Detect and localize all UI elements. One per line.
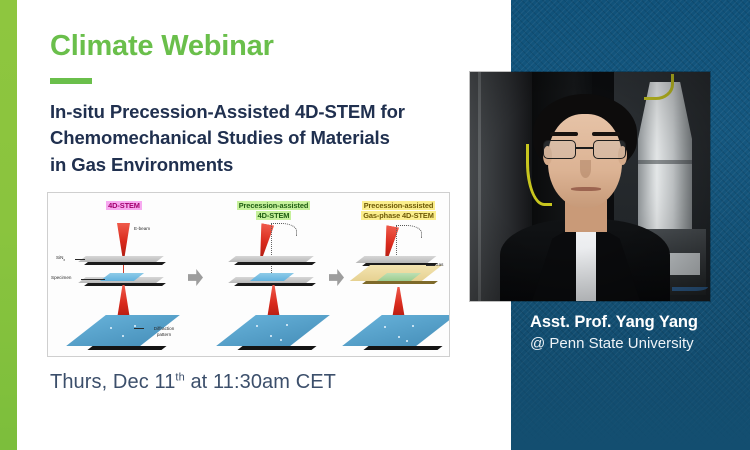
panel-label-text-line1: Precession-assisted	[237, 201, 311, 210]
slab-edge	[234, 262, 316, 265]
detector-shadow	[88, 346, 167, 350]
talk-title-line-2: Chemomechanical Studies of Materials	[50, 125, 465, 151]
label-gas: Gas	[435, 262, 443, 268]
scattered-beam-cone	[267, 285, 280, 319]
detector-shadow	[364, 346, 443, 350]
page-title: Climate Webinar	[50, 30, 274, 63]
panel-label-gas-phase: Precession-assisted Gas-phase 4D-STEM	[346, 201, 450, 221]
diffraction-spot	[384, 326, 386, 328]
leader-gas	[426, 265, 435, 266]
left-accent-rail	[0, 0, 17, 450]
diffraction-spot	[122, 335, 124, 337]
speaker-name: Asst. Prof. Yang Yang	[530, 312, 745, 333]
panel-label-text-line2: 4D-STEM	[256, 211, 292, 220]
panel-label-text-line1: Precession-assisted	[362, 201, 436, 210]
panel-label-text: 4D-STEM	[106, 201, 142, 210]
diffraction-spot	[256, 325, 258, 327]
precession-arc-icon	[396, 225, 422, 238]
panel-label-4d-stem: 4D-STEM	[48, 201, 200, 211]
diffraction-spot	[134, 325, 136, 327]
leader-specimen	[81, 279, 105, 280]
electron-beam-cone	[117, 223, 130, 257]
slab-edge	[84, 283, 166, 286]
photo-vignette	[470, 72, 710, 301]
label-e-beam: E-beam	[134, 226, 150, 232]
diffraction-spot	[412, 325, 414, 327]
title-underline-rule	[50, 78, 92, 84]
talk-title: In-situ Precession-Assisted 4D-STEM for …	[50, 99, 465, 178]
label-membrane: SiNx	[56, 255, 65, 262]
slab-edge	[362, 281, 438, 284]
scattered-beam-cone	[117, 285, 130, 319]
diffraction-spot	[398, 336, 400, 338]
speaker-affiliation: @ Penn State University	[530, 334, 745, 354]
talk-title-line-3: in Gas Environments	[50, 152, 465, 178]
diffraction-spot	[110, 327, 112, 329]
detector-face	[216, 315, 330, 346]
slab-edge	[84, 262, 166, 265]
diagram-panel-precession: Precession-assisted 4D-STEM	[205, 193, 342, 357]
detector-face	[342, 315, 450, 346]
webinar-date: Thurs, Dec 11	[50, 371, 175, 393]
membrane-slab-top	[232, 256, 310, 262]
leader-detector	[134, 328, 144, 329]
panel-label-text-line2: Gas-phase 4D-STEM	[361, 211, 436, 220]
precession-arc-icon	[271, 223, 297, 236]
gas-cell-top-window	[360, 256, 432, 263]
label-specimen: Specimen	[51, 275, 71, 281]
panel-label-precession: Precession-assisted 4D-STEM	[205, 201, 342, 221]
diffraction-spot	[286, 324, 288, 326]
talk-title-line-1: In-situ Precession-Assisted 4D-STEM for	[50, 99, 465, 125]
diagram-panel-4d-stem: 4D-STEM E-beam SiNx Specimen Diffraction	[48, 193, 200, 357]
diffraction-spot	[270, 335, 272, 337]
diffraction-spot	[406, 340, 408, 342]
webinar-datetime: Thurs, Dec 11th at 11:30am CET	[50, 371, 336, 394]
membrane-slab-top	[82, 256, 160, 262]
speaker-photo	[470, 72, 710, 301]
slab-surface	[356, 256, 437, 263]
leader-membrane	[75, 259, 85, 260]
diffraction-detector	[362, 315, 436, 346]
diffraction-spot	[280, 339, 282, 341]
webinar-time: at 11:30am CET	[185, 371, 336, 393]
date-ordinal-suffix: th	[175, 371, 184, 383]
method-diagram: 4D-STEM E-beam SiNx Specimen Diffraction	[47, 192, 450, 357]
speaker-caption: Asst. Prof. Yang Yang @ Penn State Unive…	[530, 312, 745, 353]
diffraction-detector	[236, 315, 310, 346]
slab-edge	[234, 283, 316, 286]
diagram-panel-gas-phase: Precession-assisted Gas-phase 4D-STEM Ga…	[346, 193, 450, 357]
detector-shadow	[238, 346, 317, 350]
label-diffraction-pattern: Diffraction pattern	[144, 326, 184, 337]
